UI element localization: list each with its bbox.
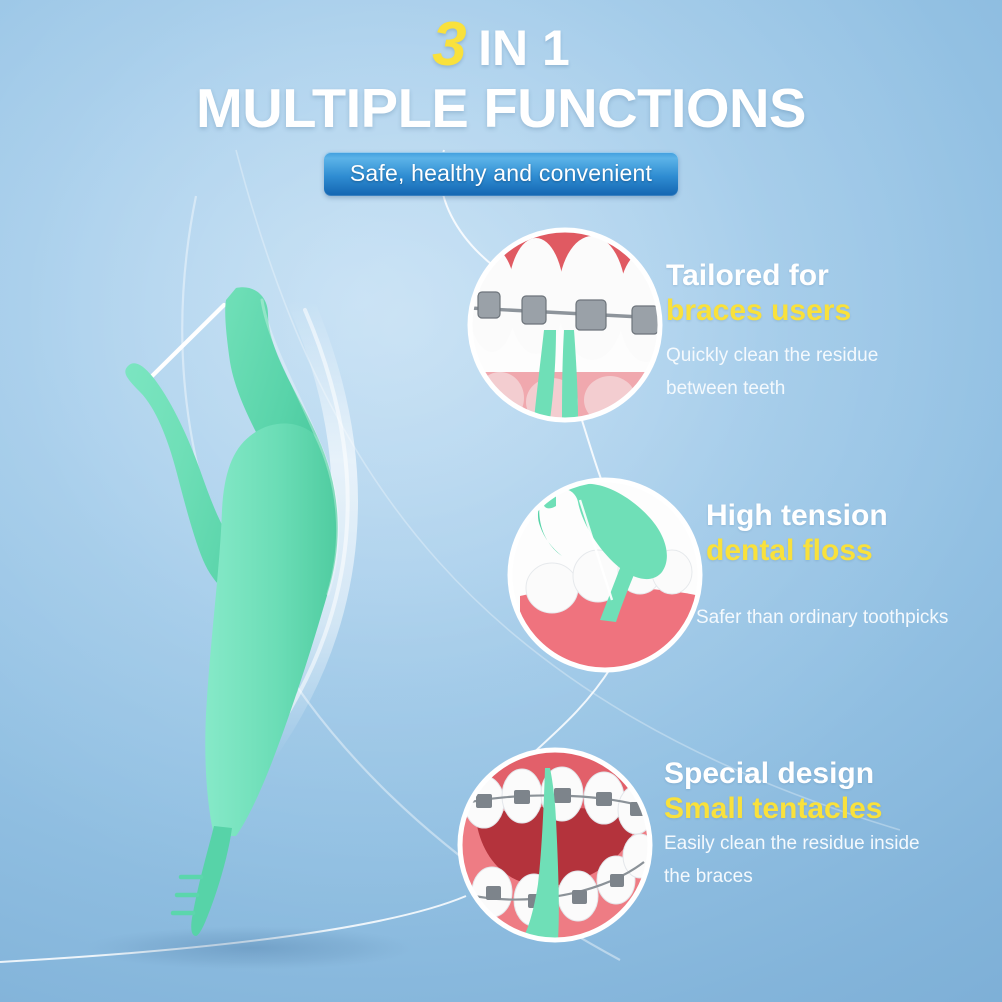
feature-1-desc-line-2: between teeth xyxy=(666,372,878,405)
header: 3 IN 1 MULTIPLE FUNCTIONS Safe, healthy … xyxy=(0,0,1002,196)
feature-3-desc-line-1: Easily clean the residue inside xyxy=(664,827,920,860)
product-infographic: 3 IN 1 MULTIPLE FUNCTIONS Safe, healthy … xyxy=(0,0,1002,1002)
in-one-label: IN 1 xyxy=(478,20,570,76)
headline-line-1: 3 IN 1 xyxy=(0,14,1002,76)
feature-2-desc-line-1: Safer than ordinary toothpicks xyxy=(696,601,948,634)
feature-1-desc-line-1: Quickly clean the residue xyxy=(666,339,878,372)
tagline-badge[interactable]: Safe, healthy and convenient xyxy=(324,152,678,196)
feature-1-title-line-1: Tailored for xyxy=(666,258,878,293)
badge-container: Safe, healthy and convenient xyxy=(0,152,1002,196)
feature-2-title-line-2: dental floss xyxy=(706,533,958,568)
feature-2-title-line-1: High tension xyxy=(706,498,958,533)
feature-3-title-line-2: Small tentacles xyxy=(664,791,920,826)
feature-3-desc-line-2: the braces xyxy=(664,860,920,893)
headline-line-2: MULTIPLE FUNCTIONS xyxy=(0,80,1002,138)
feature-1-title-line-2: braces users xyxy=(666,293,878,328)
feature-2-text: High tension dental floss Safer than ord… xyxy=(706,498,958,612)
feature-1-text: Tailored for braces users Quickly clean … xyxy=(666,258,878,405)
feature-3-title-line-1: Special design xyxy=(664,756,920,791)
feature-3-text: Special design Small tentacles Easily cl… xyxy=(664,756,920,893)
three-number: 3 xyxy=(432,10,465,79)
